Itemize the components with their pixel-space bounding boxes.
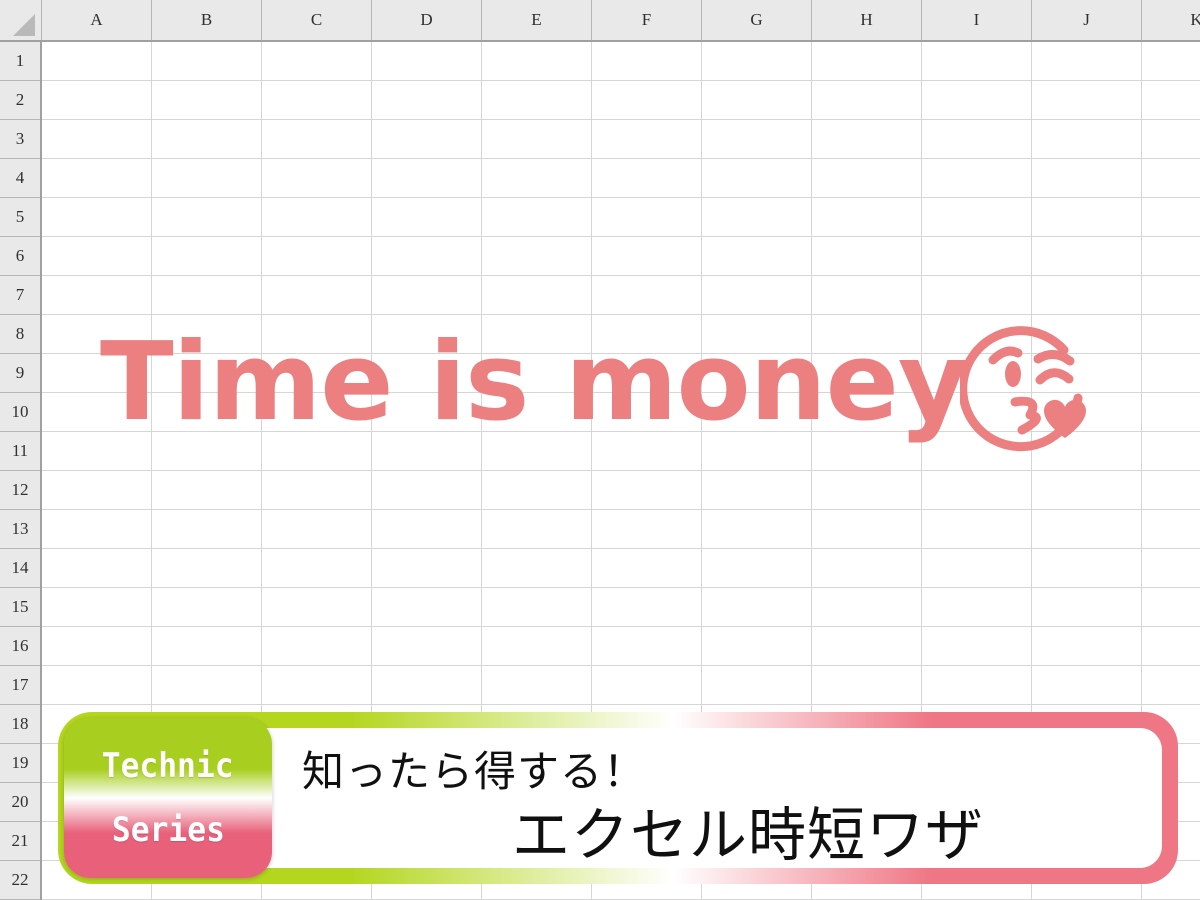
cell-A2[interactable] <box>42 81 152 119</box>
cell-D10[interactable] <box>372 393 482 431</box>
cell-I3[interactable] <box>922 120 1032 158</box>
column-header-e[interactable]: E <box>482 0 592 40</box>
cell-D5[interactable] <box>372 198 482 236</box>
row-header-11[interactable]: 11 <box>0 432 40 471</box>
cell-E10[interactable] <box>482 393 592 431</box>
cell-G11[interactable] <box>702 432 812 470</box>
cell-H1[interactable] <box>812 42 922 80</box>
cell-B11[interactable] <box>152 432 262 470</box>
technic-series-badge: Technic Series <box>64 718 272 878</box>
cell-I12[interactable] <box>922 471 1032 509</box>
grid-row <box>42 627 1200 666</box>
column-header-j[interactable]: J <box>1032 0 1142 40</box>
cell-H8[interactable] <box>812 315 922 353</box>
cell-G16[interactable] <box>702 627 812 665</box>
cell-J2[interactable] <box>1032 81 1142 119</box>
spreadsheet-canvas[interactable]: 12345678910111213141516171819202122 ABCD… <box>0 0 1200 900</box>
grid-row <box>42 666 1200 705</box>
cell-K12[interactable] <box>1142 471 1200 509</box>
grid-row <box>42 588 1200 627</box>
cell-G5[interactable] <box>702 198 812 236</box>
grid-row <box>42 549 1200 588</box>
cell-F5[interactable] <box>592 198 702 236</box>
cell-E7[interactable] <box>482 276 592 314</box>
cell-H16[interactable] <box>812 627 922 665</box>
cell-K11[interactable] <box>1142 432 1200 470</box>
cell-E5[interactable] <box>482 198 592 236</box>
cell-K14[interactable] <box>1142 549 1200 587</box>
cell-K17[interactable] <box>1142 666 1200 704</box>
cell-H13[interactable] <box>812 510 922 548</box>
cell-G13[interactable] <box>702 510 812 548</box>
cell-I1[interactable] <box>922 42 1032 80</box>
cell-D7[interactable] <box>372 276 482 314</box>
cell-J9[interactable] <box>1032 354 1142 392</box>
cell-I10[interactable] <box>922 393 1032 431</box>
cell-I17[interactable] <box>922 666 1032 704</box>
technic-series-banner: Technic Series 知ったら得する！ エクセル時短ワザ <box>58 712 1178 884</box>
cell-E8[interactable] <box>482 315 592 353</box>
cell-E3[interactable] <box>482 120 592 158</box>
cell-B4[interactable] <box>152 159 262 197</box>
cell-D15[interactable] <box>372 588 482 626</box>
cell-G3[interactable] <box>702 120 812 158</box>
row-header-3[interactable]: 3 <box>0 120 40 159</box>
cell-C11[interactable] <box>262 432 372 470</box>
cell-E2[interactable] <box>482 81 592 119</box>
grid-row <box>42 42 1200 81</box>
cell-J15[interactable] <box>1032 588 1142 626</box>
cell-F15[interactable] <box>592 588 702 626</box>
row-header-17[interactable]: 17 <box>0 666 40 705</box>
cell-A5[interactable] <box>42 198 152 236</box>
cell-A16[interactable] <box>42 627 152 665</box>
cell-K10[interactable] <box>1142 393 1200 431</box>
cell-F9[interactable] <box>592 354 702 392</box>
cell-J12[interactable] <box>1032 471 1142 509</box>
grid-row <box>42 393 1200 432</box>
cell-G4[interactable] <box>702 159 812 197</box>
cell-A1[interactable] <box>42 42 152 80</box>
cell-K15[interactable] <box>1142 588 1200 626</box>
cell-C6[interactable] <box>262 237 372 275</box>
cell-C4[interactable] <box>262 159 372 197</box>
cell-B17[interactable] <box>152 666 262 704</box>
cell-J3[interactable] <box>1032 120 1142 158</box>
cell-G1[interactable] <box>702 42 812 80</box>
cell-I2[interactable] <box>922 81 1032 119</box>
grid-row <box>42 432 1200 471</box>
cell-A3[interactable] <box>42 120 152 158</box>
cell-F8[interactable] <box>592 315 702 353</box>
cell-E16[interactable] <box>482 627 592 665</box>
cell-H11[interactable] <box>812 432 922 470</box>
cell-I5[interactable] <box>922 198 1032 236</box>
cell-B9[interactable] <box>152 354 262 392</box>
row-header-19[interactable]: 19 <box>0 744 40 783</box>
cell-C9[interactable] <box>262 354 372 392</box>
grid-row <box>42 276 1200 315</box>
cell-H2[interactable] <box>812 81 922 119</box>
cell-I13[interactable] <box>922 510 1032 548</box>
cell-J10[interactable] <box>1032 393 1142 431</box>
cell-B6[interactable] <box>152 237 262 275</box>
cell-H7[interactable] <box>812 276 922 314</box>
cell-A17[interactable] <box>42 666 152 704</box>
cell-H4[interactable] <box>812 159 922 197</box>
cell-E17[interactable] <box>482 666 592 704</box>
cell-J1[interactable] <box>1032 42 1142 80</box>
cell-I15[interactable] <box>922 588 1032 626</box>
cell-G14[interactable] <box>702 549 812 587</box>
cell-E13[interactable] <box>482 510 592 548</box>
cell-I9[interactable] <box>922 354 1032 392</box>
grid-row <box>42 315 1200 354</box>
cell-D14[interactable] <box>372 549 482 587</box>
cell-F6[interactable] <box>592 237 702 275</box>
row-header-20[interactable]: 20 <box>0 783 40 822</box>
cell-K1[interactable] <box>1142 42 1200 80</box>
cell-C8[interactable] <box>262 315 372 353</box>
cell-C16[interactable] <box>262 627 372 665</box>
row-header-10[interactable]: 10 <box>0 393 40 432</box>
row-header-4[interactable]: 4 <box>0 159 40 198</box>
cell-I4[interactable] <box>922 159 1032 197</box>
row-header-8[interactable]: 8 <box>0 315 40 354</box>
cell-C17[interactable] <box>262 666 372 704</box>
cell-B7[interactable] <box>152 276 262 314</box>
cell-G9[interactable] <box>702 354 812 392</box>
cell-F10[interactable] <box>592 393 702 431</box>
cell-C5[interactable] <box>262 198 372 236</box>
cell-K4[interactable] <box>1142 159 1200 197</box>
cell-D13[interactable] <box>372 510 482 548</box>
row-header-16[interactable]: 16 <box>0 627 40 666</box>
cell-J5[interactable] <box>1032 198 1142 236</box>
grid-row <box>42 198 1200 237</box>
column-header-h[interactable]: H <box>812 0 922 40</box>
row-header-18[interactable]: 18 <box>0 705 40 744</box>
cell-H6[interactable] <box>812 237 922 275</box>
row-header-6[interactable]: 6 <box>0 237 40 276</box>
cell-K2[interactable] <box>1142 81 1200 119</box>
cell-A10[interactable] <box>42 393 152 431</box>
banner-headline-line2: エクセル時短ワザ <box>512 788 984 872</box>
column-header-c[interactable]: C <box>262 0 372 40</box>
row-header-5[interactable]: 5 <box>0 198 40 237</box>
cell-F12[interactable] <box>592 471 702 509</box>
cell-D16[interactable] <box>372 627 482 665</box>
cell-G7[interactable] <box>702 276 812 314</box>
cell-D9[interactable] <box>372 354 482 392</box>
cell-E1[interactable] <box>482 42 592 80</box>
cell-G8[interactable] <box>702 315 812 353</box>
cell-K9[interactable] <box>1142 354 1200 392</box>
column-header-g[interactable]: G <box>702 0 812 40</box>
cell-G2[interactable] <box>702 81 812 119</box>
cell-H10[interactable] <box>812 393 922 431</box>
banner-copy: 知ったら得する！ エクセル時短ワザ <box>290 730 1144 866</box>
cell-E12[interactable] <box>482 471 592 509</box>
cell-E14[interactable] <box>482 549 592 587</box>
column-header-d[interactable]: D <box>372 0 482 40</box>
grid-row <box>42 510 1200 549</box>
cell-B13[interactable] <box>152 510 262 548</box>
row-header-14[interactable]: 14 <box>0 549 40 588</box>
cell-A6[interactable] <box>42 237 152 275</box>
grid-row <box>42 159 1200 198</box>
row-header-9[interactable]: 9 <box>0 354 40 393</box>
select-all-button[interactable] <box>0 0 42 40</box>
cell-A4[interactable] <box>42 159 152 197</box>
cell-B2[interactable] <box>152 81 262 119</box>
cell-A11[interactable] <box>42 432 152 470</box>
row-header-13[interactable]: 13 <box>0 510 40 549</box>
cell-A12[interactable] <box>42 471 152 509</box>
cell-C3[interactable] <box>262 120 372 158</box>
cell-C13[interactable] <box>262 510 372 548</box>
cell-A7[interactable] <box>42 276 152 314</box>
cell-B14[interactable] <box>152 549 262 587</box>
cell-G10[interactable] <box>702 393 812 431</box>
cell-I11[interactable] <box>922 432 1032 470</box>
cell-D4[interactable] <box>372 159 482 197</box>
cell-C10[interactable] <box>262 393 372 431</box>
cell-B3[interactable] <box>152 120 262 158</box>
cell-F2[interactable] <box>592 81 702 119</box>
cell-D8[interactable] <box>372 315 482 353</box>
cell-D6[interactable] <box>372 237 482 275</box>
cell-H14[interactable] <box>812 549 922 587</box>
cell-F14[interactable] <box>592 549 702 587</box>
cell-K13[interactable] <box>1142 510 1200 548</box>
column-header-f[interactable]: F <box>592 0 702 40</box>
cell-C1[interactable] <box>262 42 372 80</box>
cell-A8[interactable] <box>42 315 152 353</box>
column-header-b[interactable]: B <box>152 0 262 40</box>
column-header-i[interactable]: I <box>922 0 1032 40</box>
select-all-triangle-icon <box>13 14 35 36</box>
row-header-21[interactable]: 21 <box>0 822 40 861</box>
cell-C15[interactable] <box>262 588 372 626</box>
cell-J16[interactable] <box>1032 627 1142 665</box>
cell-B5[interactable] <box>152 198 262 236</box>
cell-K16[interactable] <box>1142 627 1200 665</box>
cell-D12[interactable] <box>372 471 482 509</box>
badge-label-series: Series <box>111 813 224 847</box>
cell-F1[interactable] <box>592 42 702 80</box>
cell-A9[interactable] <box>42 354 152 392</box>
cell-K5[interactable] <box>1142 198 1200 236</box>
cell-J17[interactable] <box>1032 666 1142 704</box>
cell-H17[interactable] <box>812 666 922 704</box>
cell-H12[interactable] <box>812 471 922 509</box>
cell-I14[interactable] <box>922 549 1032 587</box>
cell-J4[interactable] <box>1032 159 1142 197</box>
cell-F7[interactable] <box>592 276 702 314</box>
badge-label-technic: Technic <box>102 749 234 783</box>
cell-D17[interactable] <box>372 666 482 704</box>
column-header-k[interactable]: K <box>1142 0 1200 40</box>
cell-C12[interactable] <box>262 471 372 509</box>
row-header-15[interactable]: 15 <box>0 588 40 627</box>
cell-F13[interactable] <box>592 510 702 548</box>
cell-F17[interactable] <box>592 666 702 704</box>
cell-J11[interactable] <box>1032 432 1142 470</box>
cell-H5[interactable] <box>812 198 922 236</box>
cell-D1[interactable] <box>372 42 482 80</box>
cell-I6[interactable] <box>922 237 1032 275</box>
cell-J8[interactable] <box>1032 315 1142 353</box>
cell-K8[interactable] <box>1142 315 1200 353</box>
cell-F3[interactable] <box>592 120 702 158</box>
cell-J14[interactable] <box>1032 549 1142 587</box>
cell-J13[interactable] <box>1032 510 1142 548</box>
cell-D11[interactable] <box>372 432 482 470</box>
grid-row <box>42 81 1200 120</box>
grid-row <box>42 354 1200 393</box>
cell-D2[interactable] <box>372 81 482 119</box>
cell-J7[interactable] <box>1032 276 1142 314</box>
row-header-strip: 12345678910111213141516171819202122 <box>0 42 42 900</box>
cell-B12[interactable] <box>152 471 262 509</box>
cell-I7[interactable] <box>922 276 1032 314</box>
cell-H3[interactable] <box>812 120 922 158</box>
cell-G6[interactable] <box>702 237 812 275</box>
cell-K7[interactable] <box>1142 276 1200 314</box>
cell-H15[interactable] <box>812 588 922 626</box>
cell-B8[interactable] <box>152 315 262 353</box>
cell-I8[interactable] <box>922 315 1032 353</box>
cell-C7[interactable] <box>262 276 372 314</box>
cell-E15[interactable] <box>482 588 592 626</box>
cell-B1[interactable] <box>152 42 262 80</box>
cell-E6[interactable] <box>482 237 592 275</box>
cell-A15[interactable] <box>42 588 152 626</box>
cell-G17[interactable] <box>702 666 812 704</box>
row-header-22[interactable]: 22 <box>0 861 40 900</box>
cell-E9[interactable] <box>482 354 592 392</box>
cell-K6[interactable] <box>1142 237 1200 275</box>
cell-I16[interactable] <box>922 627 1032 665</box>
cell-B10[interactable] <box>152 393 262 431</box>
cell-C2[interactable] <box>262 81 372 119</box>
row-header-1[interactable]: 1 <box>0 42 40 81</box>
column-header-strip: ABCDEFGHIJK <box>0 0 1200 42</box>
cell-B16[interactable] <box>152 627 262 665</box>
cell-G12[interactable] <box>702 471 812 509</box>
cell-B15[interactable] <box>152 588 262 626</box>
cell-A14[interactable] <box>42 549 152 587</box>
grid-row <box>42 471 1200 510</box>
cell-J6[interactable] <box>1032 237 1142 275</box>
cell-K3[interactable] <box>1142 120 1200 158</box>
cell-E11[interactable] <box>482 432 592 470</box>
row-header-12[interactable]: 12 <box>0 471 40 510</box>
cell-G15[interactable] <box>702 588 812 626</box>
row-header-2[interactable]: 2 <box>0 81 40 120</box>
cell-E4[interactable] <box>482 159 592 197</box>
grid-row <box>42 237 1200 276</box>
grid-row <box>42 120 1200 159</box>
cell-F16[interactable] <box>592 627 702 665</box>
cell-F11[interactable] <box>592 432 702 470</box>
cell-C14[interactable] <box>262 549 372 587</box>
column-header-a[interactable]: A <box>42 0 152 40</box>
row-header-7[interactable]: 7 <box>0 276 40 315</box>
cell-F4[interactable] <box>592 159 702 197</box>
cell-D3[interactable] <box>372 120 482 158</box>
cell-H9[interactable] <box>812 354 922 392</box>
cell-A13[interactable] <box>42 510 152 548</box>
